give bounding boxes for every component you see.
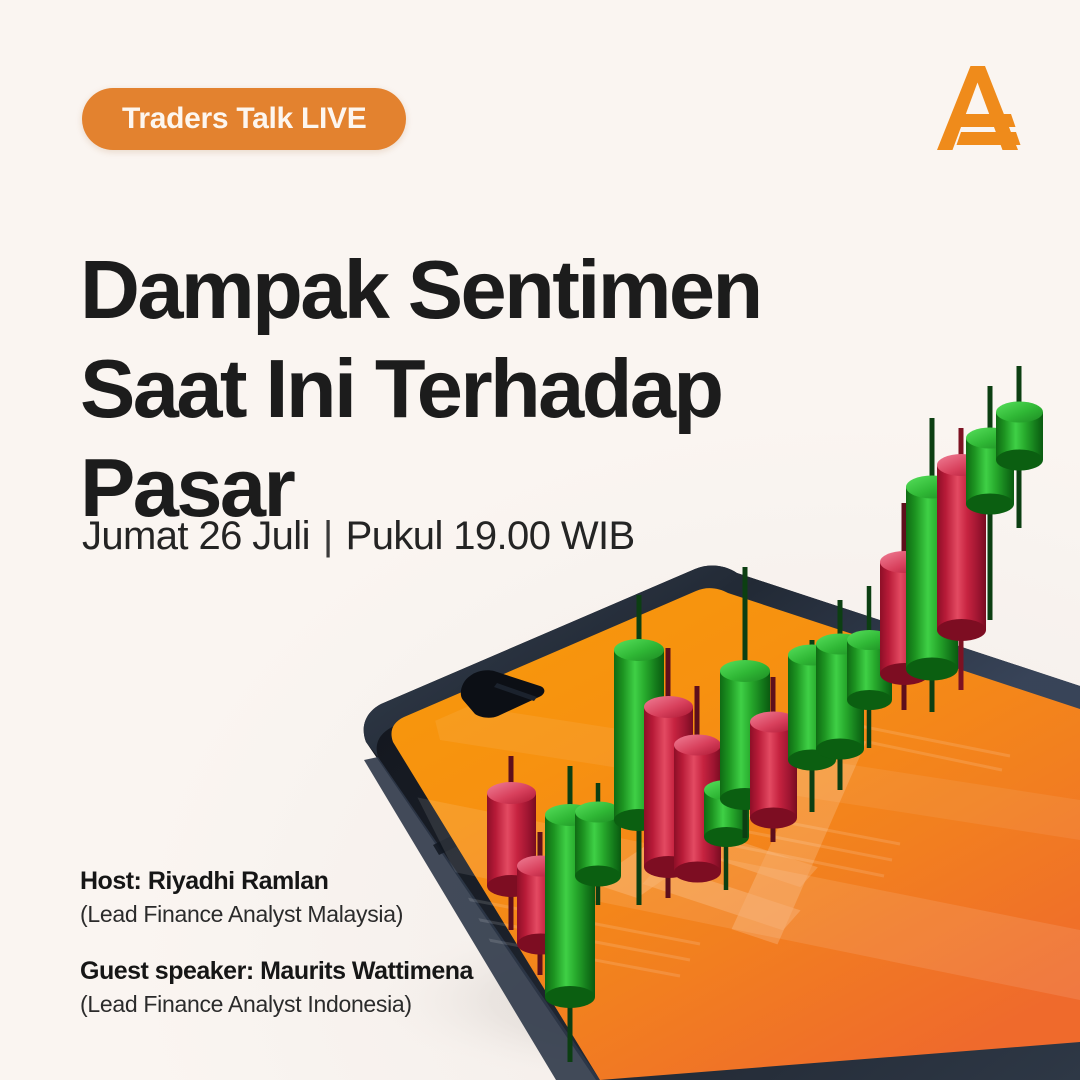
- traders-talk-live-badge: Traders Talk LIVE: [82, 88, 406, 150]
- speaker-credits: Host: Riyadhi Ramlan (Lead Finance Analy…: [80, 866, 550, 1020]
- guest-name: Guest speaker: Maurits Wattimena: [80, 956, 550, 987]
- headline-line-2: Saat Ini Terhadap: [80, 347, 800, 430]
- host-role: (Lead Finance Analyst Malaysia): [80, 900, 550, 930]
- guest-credit: Guest speaker: Maurits Wattimena (Lead F…: [80, 956, 550, 1020]
- guest-role: (Lead Finance Analyst Indonesia): [80, 990, 550, 1020]
- page-title: Dampak Sentimen Saat Ini Terhadap Pasar: [80, 248, 800, 545]
- event-datetime: Jumat 26 Juli | Pukul 19.00 WIB: [82, 514, 635, 559]
- ascendex-a-logo: [930, 58, 1030, 158]
- badge-label: Traders Talk LIVE: [122, 104, 366, 134]
- event-date: Jumat 26 Juli: [82, 514, 310, 559]
- host-credit: Host: Riyadhi Ramlan (Lead Finance Analy…: [80, 866, 550, 930]
- poster-canvas: Traders Talk LIVE Dampak Sentimen Saat I…: [0, 0, 1080, 1080]
- event-time: Pukul 19.00 WIB: [346, 514, 635, 559]
- datetime-separator: |: [323, 514, 333, 559]
- headline-line-1: Dampak Sentimen: [80, 248, 800, 331]
- host-name: Host: Riyadhi Ramlan: [80, 866, 550, 897]
